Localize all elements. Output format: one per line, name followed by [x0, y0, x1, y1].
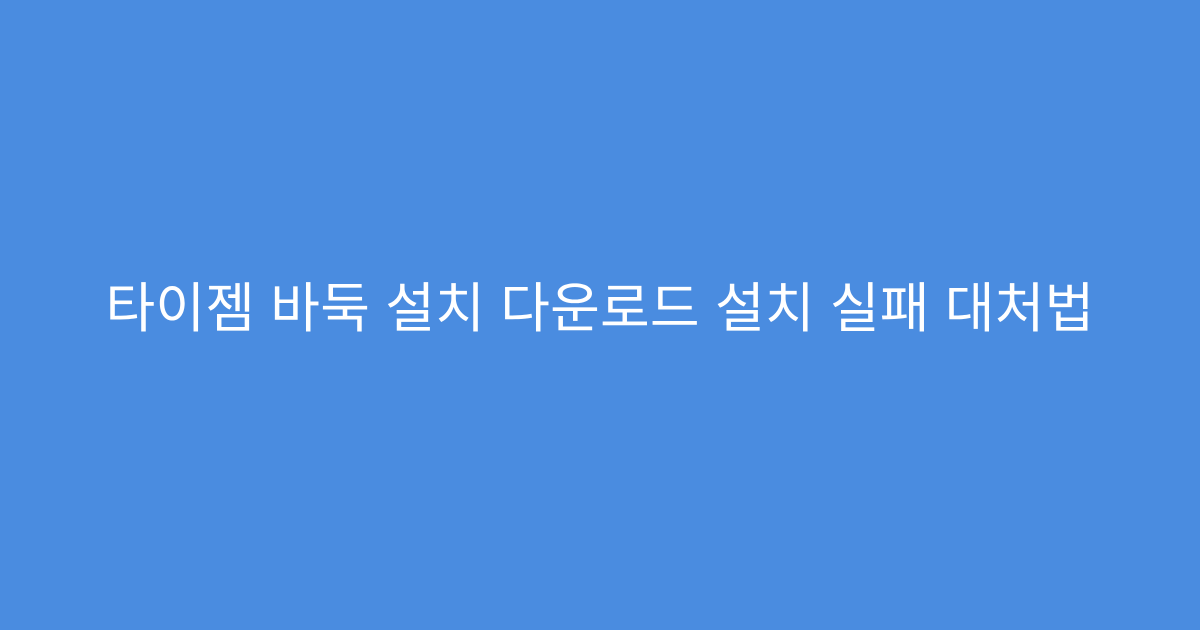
title-block: 타이젬 바둑 설치 다운로드 설치 실패 대처법	[0, 277, 1200, 343]
page-title: 타이젬 바둑 설치 다운로드 설치 실패 대처법	[40, 277, 1160, 343]
og-image-card: 타이젬 바둑 설치 다운로드 설치 실패 대처법	[0, 0, 1200, 630]
